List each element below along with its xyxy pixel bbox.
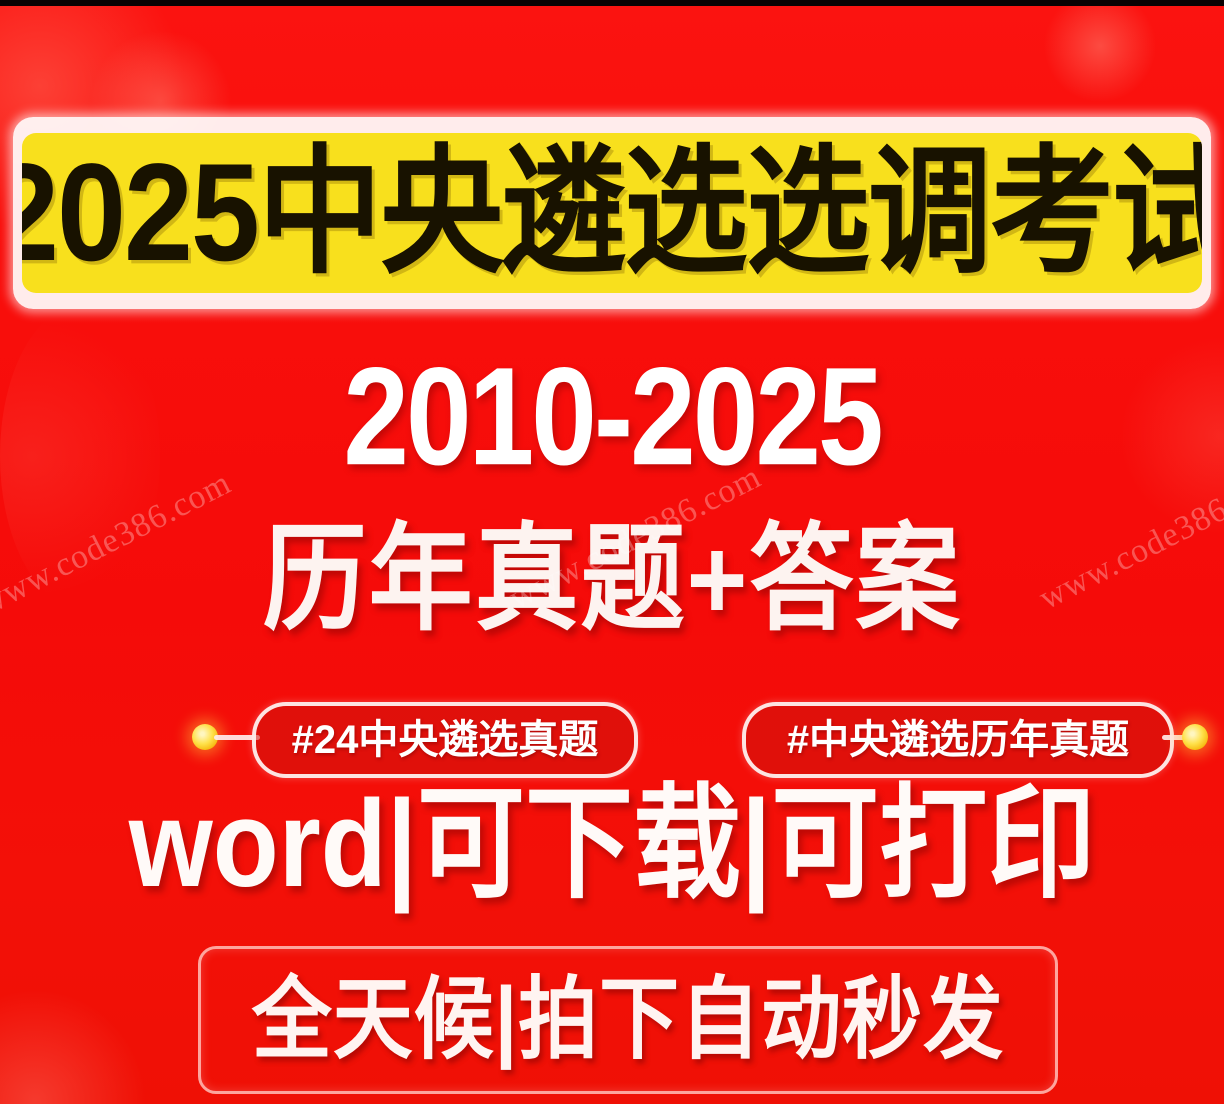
- hashtag-pill-left-label: #24中央遴选真题: [292, 720, 599, 760]
- headline-banner-title: 2025中央遴选选调考试: [22, 144, 1202, 283]
- service-note-text: 全天候|拍下自动秒发: [252, 975, 1004, 1065]
- features-line: word|可下载|可打印: [0, 790, 1224, 898]
- headline-banner: 2025中央遴选选调考试: [13, 117, 1211, 309]
- subheadline: 历年真题+答案: [0, 528, 1224, 632]
- year-range: 2010-2025: [0, 358, 1224, 476]
- top-edge-strip: [0, 0, 1224, 6]
- year-range-text: 2010-2025: [343, 347, 880, 486]
- hashtag-pill-right[interactable]: #中央遴选历年真题: [742, 702, 1174, 778]
- bokeh-light-icon: [1040, 0, 1160, 106]
- hashtag-pill-row: #24中央遴选真题 #中央遴选历年真题: [0, 702, 1224, 772]
- bokeh-light-icon: [0, 986, 150, 1104]
- subheadline-text: 历年真题+答案: [263, 522, 962, 638]
- hashtag-pill-left[interactable]: #24中央遴选真题: [252, 702, 638, 778]
- service-note-box: 全天候|拍下自动秒发: [198, 946, 1058, 1094]
- features-text: word|可下载|可打印: [129, 782, 1095, 905]
- headline-banner-inner: 2025中央遴选选调考试: [22, 133, 1202, 293]
- hashtag-pill-right-label: #中央遴选历年真题: [787, 720, 1129, 760]
- promo-poster: 2025中央遴选选调考试 2010-2025 历年真题+答案 #24中央遴选真题…: [0, 0, 1224, 1104]
- dot-marker-icon: [1182, 724, 1208, 750]
